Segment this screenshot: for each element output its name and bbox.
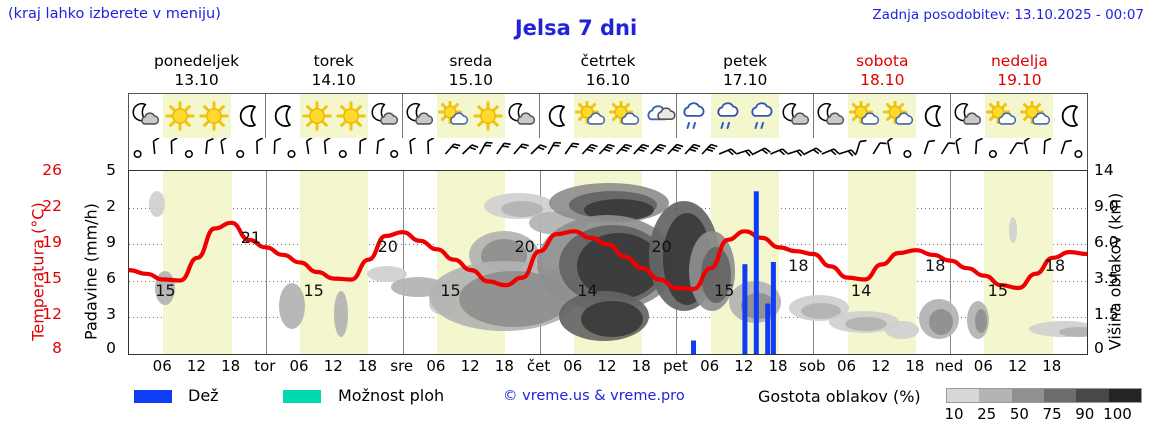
day-header-0: ponedeljek 13.10 [128, 52, 265, 92]
cloud-height-tick: 14 [1094, 161, 1134, 179]
sun-cloud-icon [848, 94, 882, 138]
day-name: nedelja [951, 52, 1088, 71]
cloud-ramp-label: 75 [1043, 405, 1062, 423]
daily-max-temp-label: 18 [788, 256, 808, 275]
cloud-density-legend-title: Gostota oblakov (%) [758, 387, 921, 406]
temperature-tick: 19 [30, 233, 62, 251]
cloud-height-tick: 6.0 [1094, 233, 1134, 251]
x-hour-label: 12 [461, 357, 480, 375]
cloud-ramp-step-25 [979, 389, 1011, 402]
icon-day-4 [677, 94, 814, 138]
temperature-tick: 26 [30, 161, 62, 179]
day-name: četrtek [539, 52, 676, 71]
forecast-plot: 2120202018181815151514151415 [128, 170, 1088, 355]
x-hour-label: 06 [974, 357, 993, 375]
moon-cloud-icon [403, 94, 437, 138]
day-header-6: nedelja 19.10 [951, 52, 1088, 92]
icon-day-0 [129, 94, 266, 138]
temperature-tick: 22 [30, 197, 62, 215]
sun-cloud-icon [437, 94, 471, 138]
x-hour-label: 12 [324, 357, 343, 375]
day-date: 19.10 [951, 71, 1088, 90]
cloud-ramp-step-90 [1076, 389, 1108, 402]
x-hour-label: 12 [871, 357, 890, 375]
day-date: 17.10 [677, 71, 814, 90]
precipitation-tick: 6 [88, 269, 116, 287]
x-hour-label: 18 [769, 357, 788, 375]
x-hour-label: 12 [187, 357, 206, 375]
cloud-ramp-step-10 [947, 389, 979, 402]
daily-max-temp-label: 18 [925, 256, 945, 275]
daily-min-temp-label: 15 [714, 281, 734, 300]
cloud-rain-icon [711, 94, 745, 138]
daily-max-temp-label: 20 [651, 237, 671, 256]
icon-day-3 [540, 94, 677, 138]
daily-min-temp-label: 14 [851, 281, 871, 300]
sun-cloud-icon [608, 94, 642, 138]
cloud-ramp-label: 50 [1010, 405, 1029, 423]
x-hour-label: 06 [153, 357, 172, 375]
sun-icon [300, 94, 334, 138]
moon-cloud-icon [368, 94, 402, 138]
temperature-tick: 15 [30, 269, 62, 287]
day-header-2: sreda 15.10 [402, 52, 539, 92]
daily-max-temp-label: 21 [241, 228, 261, 247]
moon-icon [540, 94, 574, 138]
moon-icon [266, 94, 300, 138]
showers-swatch [283, 390, 321, 403]
rain-legend-label: Dež [188, 386, 219, 405]
moon-icon [231, 94, 265, 138]
day-header-3: četrtek 16.10 [539, 52, 676, 92]
day-date: 13.10 [128, 71, 265, 90]
moon-cloud-icon [814, 94, 848, 138]
daily-min-temp-label: 15 [155, 281, 175, 300]
wind-barbs-svg [129, 138, 1087, 170]
x-hour-label: 12 [734, 357, 753, 375]
daily-min-temp-label: 15 [303, 281, 323, 300]
moon-icon [916, 94, 950, 138]
rain-swatch [134, 390, 172, 403]
daily-max-temp-label: 18 [1045, 256, 1065, 275]
moon-cloud-icon [951, 94, 985, 138]
cloud-icon [642, 94, 676, 138]
cloud-height-tick: 3.5 [1094, 269, 1134, 287]
icon-day-5 [814, 94, 951, 138]
cloud-ramp-label: 100 [1103, 405, 1132, 423]
x-hour-label: 18 [905, 357, 924, 375]
wind-barb-strip [128, 138, 1088, 170]
cloud-height-ticks: 149.06.03.51.50 [1094, 170, 1134, 360]
x-day-label: sre [390, 357, 413, 375]
moon-cloud-icon [129, 94, 163, 138]
day-date: 15.10 [402, 71, 539, 90]
cloud-ramp-label: 25 [977, 405, 996, 423]
daily-max-temp-label: 20 [514, 237, 534, 256]
x-hour-label: 06 [563, 357, 582, 375]
sun-cloud-icon [985, 94, 1019, 138]
cloud-density-ramp-labels: 1025507590100 [938, 405, 1152, 425]
x-day-label: čet [527, 357, 550, 375]
x-day-label: sob [799, 357, 826, 375]
day-date: 18.10 [814, 71, 951, 90]
day-header-1: torek 14.10 [265, 52, 402, 92]
moon-cloud-icon [779, 94, 813, 138]
sun-icon [334, 94, 368, 138]
x-hour-label: 12 [597, 357, 616, 375]
last-update-text: Zadnja posodobitev: 13.10.2025 - 00:07 [872, 7, 1144, 23]
daily-min-temp-label: 15 [440, 281, 460, 300]
precipitation-tick: 0 [88, 339, 116, 357]
x-hour-label: 06 [290, 357, 309, 375]
x-axis-labels: 061218tor061218sre061218čet061218pet0612… [128, 357, 1088, 377]
day-name: ponedeljek [128, 52, 265, 71]
precipitation-tick: 5 [88, 161, 116, 179]
precipitation-tick: 9 [88, 233, 116, 251]
cloud-ramp-label: 10 [944, 405, 963, 423]
weather-forecast-page: (kraj lahko izberete v meniju) Jelsa 7 d… [0, 0, 1152, 443]
icon-day-6 [951, 94, 1087, 138]
daily-min-temp-label: 15 [988, 281, 1008, 300]
day-date: 16.10 [539, 71, 676, 90]
sun-icon [471, 94, 505, 138]
precipitation-tick: 3 [88, 305, 116, 323]
x-hour-label: 12 [1008, 357, 1027, 375]
precipitation-ticks: 529630 [88, 170, 116, 360]
cloud-height-tick: 9.0 [1094, 197, 1134, 215]
sun-icon [163, 94, 197, 138]
x-hour-label: 18 [495, 357, 514, 375]
x-hour-label: 18 [1042, 357, 1061, 375]
x-day-label: pet [663, 357, 688, 375]
copyright-link[interactable]: © vreme.us & vreme.pro [503, 388, 685, 404]
x-hour-label: 18 [358, 357, 377, 375]
weather-icon-strip [128, 93, 1088, 138]
cloud-height-tick: 0 [1094, 339, 1134, 357]
day-header-5: sobota 18.10 [814, 52, 951, 92]
moon-icon [1053, 94, 1087, 138]
cloud-rain-icon [677, 94, 711, 138]
cloud-rain-icon [745, 94, 779, 138]
icon-day-2 [403, 94, 540, 138]
showers-legend-label: Možnost ploh [338, 386, 444, 405]
sun-cloud-icon [1019, 94, 1053, 138]
cloud-height-tick: 1.5 [1094, 305, 1134, 323]
precipitation-tick: 2 [88, 197, 116, 215]
chart-legend: Dež Možnost ploh © vreme.us & vreme.pro … [128, 386, 1152, 431]
x-hour-label: 18 [632, 357, 651, 375]
x-day-label: tor [254, 357, 275, 375]
day-name: sreda [402, 52, 539, 71]
sun-cloud-icon [574, 94, 608, 138]
day-headers: ponedeljek 13.10 torek 14.10 sreda 15.10… [128, 52, 1088, 92]
day-name: sobota [814, 52, 951, 71]
x-hour-label: 06 [837, 357, 856, 375]
temperature-tick: 12 [30, 305, 62, 323]
icon-day-1 [266, 94, 403, 138]
day-header-4: petek 17.10 [677, 52, 814, 92]
x-hour-label: 06 [426, 357, 445, 375]
day-name: petek [677, 52, 814, 71]
daily-max-temp-label: 20 [378, 237, 398, 256]
cloud-ramp-step-75 [1044, 389, 1076, 402]
day-name: torek [265, 52, 402, 71]
cloud-density-ramp [946, 388, 1142, 403]
day-date: 14.10 [265, 71, 402, 90]
daily-min-temp-label: 14 [577, 281, 597, 300]
x-hour-label: 06 [700, 357, 719, 375]
cloud-ramp-label: 90 [1075, 405, 1094, 423]
cloud-ramp-step-50 [1012, 389, 1044, 402]
x-hour-label: 18 [221, 357, 240, 375]
temperature-tick: 8 [30, 339, 62, 357]
sun-cloud-icon [882, 94, 916, 138]
moon-cloud-icon [505, 94, 539, 138]
sun-icon [197, 94, 231, 138]
x-day-label: ned [935, 357, 963, 375]
cloud-ramp-step-100 [1109, 389, 1141, 402]
temperature-ticks: 26221915128 [30, 170, 62, 360]
